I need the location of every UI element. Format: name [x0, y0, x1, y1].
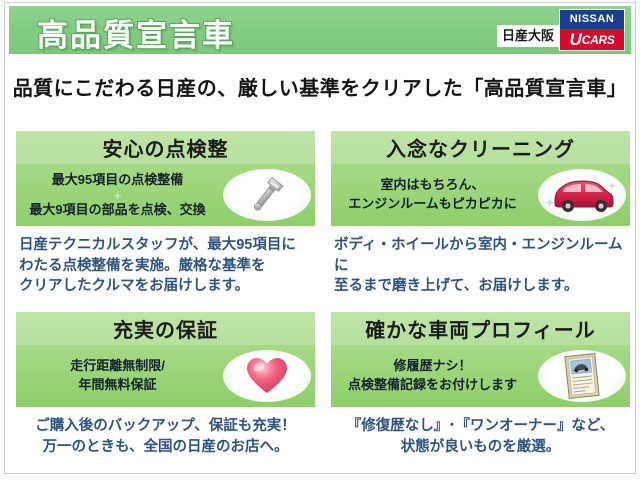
panel-header: 入念なクリーニング: [331, 131, 630, 164]
panel-copy-line1: 修履歴ナシ！: [393, 357, 471, 376]
panel-icon-area: [219, 345, 315, 407]
panel-copy: 修履歴ナシ！ 点検整備記録をお付けします: [331, 345, 534, 407]
panel-copy-line2: 最大9項目の部品を点検、交換: [29, 201, 205, 220]
feature-panel-cleaning: 入念なクリーニング 室内はもちろん、 エンジンルームもピカピカに: [331, 131, 630, 297]
panel-body: 走行距離無制限/ 年間無料保証: [16, 345, 315, 407]
header-band: 高品質宣言車 日産大阪 NISSAN UCARS: [9, 6, 631, 54]
panel-heading: 充実の保証: [113, 314, 218, 343]
feature-panel-vehicle-profile: 確かな車両プロフィール 修履歴ナシ！ 点検整備記録をお付けします: [331, 312, 630, 457]
document-certificate-icon: [534, 345, 630, 407]
panel-description: ご購入後のバックアップ、保証も充実！ 万一のときも、全国の日産のお店へ。: [16, 416, 315, 457]
panel-copy: 最大95項目の点検整備 + 最大9項目の部品を点検、交換: [16, 164, 219, 226]
panel-body: 修履歴ナシ！ 点検整備記録をお付けします: [331, 345, 630, 407]
tagline: 品質にこだわる日産の、厳しい基準をクリアした「高品質宣言車」: [0, 72, 640, 101]
panel-copy: 室内はもちろん、 エンジンルームもピカピカに: [331, 164, 534, 226]
advertisement-page: 高品質宣言車 日産大阪 NISSAN UCARS 品質にこだわる日産の、厳しい基…: [0, 0, 640, 480]
feature-panel-inspection: 安心の点検整 最大95項目の点検整備 + 最大9項目の部品を点検、交換: [16, 131, 315, 297]
panel-description: ボディ・ホイールから室内・エンジンルームに 至るまで磨き上げて、お届けします。: [331, 235, 630, 297]
wrench-icon: [219, 164, 315, 226]
ucars-logo: UCARS: [560, 29, 624, 50]
panel-copy-line1: 最大95項目の点検整備: [52, 171, 183, 190]
nissan-ucars-logo: NISSAN UCARS: [559, 9, 625, 51]
red-car-icon: [534, 164, 630, 226]
panel-copy: 走行距離無制限/ 年間無料保証: [16, 345, 219, 407]
panel-header: 充実の保証: [16, 312, 315, 345]
ucars-u-letter: U: [569, 31, 581, 48]
panel-icon-area: [219, 164, 315, 226]
panel-copy-line2: エンジンルームもピカピカに: [348, 195, 517, 214]
panel-heading: 安心の点検整: [103, 133, 229, 162]
page-title: 高品質宣言車: [37, 10, 235, 55]
panel-heading: 入念なクリーニング: [386, 133, 575, 162]
panel-description: 『修復歴なし』･『ワンオーナー』など、 状態が良いものを厳選。: [331, 416, 630, 457]
panel-body: 室内はもちろん、 エンジンルームもピカピカに: [331, 164, 630, 226]
panel-copy-line2: 点検整備記録をお付けします: [348, 376, 517, 395]
ucars-cars-text: CARS: [582, 34, 615, 46]
panel-icon-area: [534, 164, 630, 226]
panel-icon-area: [534, 345, 630, 407]
brand-bar: 日産大阪 NISSAN UCARS: [497, 9, 625, 51]
panel-header: 確かな車両プロフィール: [331, 312, 630, 345]
panel-body: 最大95項目の点検整備 + 最大9項目の部品を点検、交換: [16, 164, 315, 226]
panel-copy-line1: 室内はもちろん、: [380, 176, 484, 195]
panel-copy-line2: 年間無料保証: [78, 376, 156, 395]
heart-icon: [219, 345, 315, 407]
dealer-name: 日産大阪: [497, 25, 559, 47]
nissan-logo-text: NISSAN: [560, 10, 624, 29]
panel-copy-line1: 走行距離無制限/: [70, 357, 165, 376]
panel-description: 日産テクニカルスタッフが、最大95項目に わたる点検整備を実施。厳格な基準を ク…: [16, 235, 315, 297]
panel-heading: 確かな車両プロフィール: [365, 314, 596, 343]
feature-panel-warranty: 充実の保証 走行距離無制限/ 年間無料保証: [16, 312, 315, 457]
panel-header: 安心の点検整: [16, 131, 315, 164]
